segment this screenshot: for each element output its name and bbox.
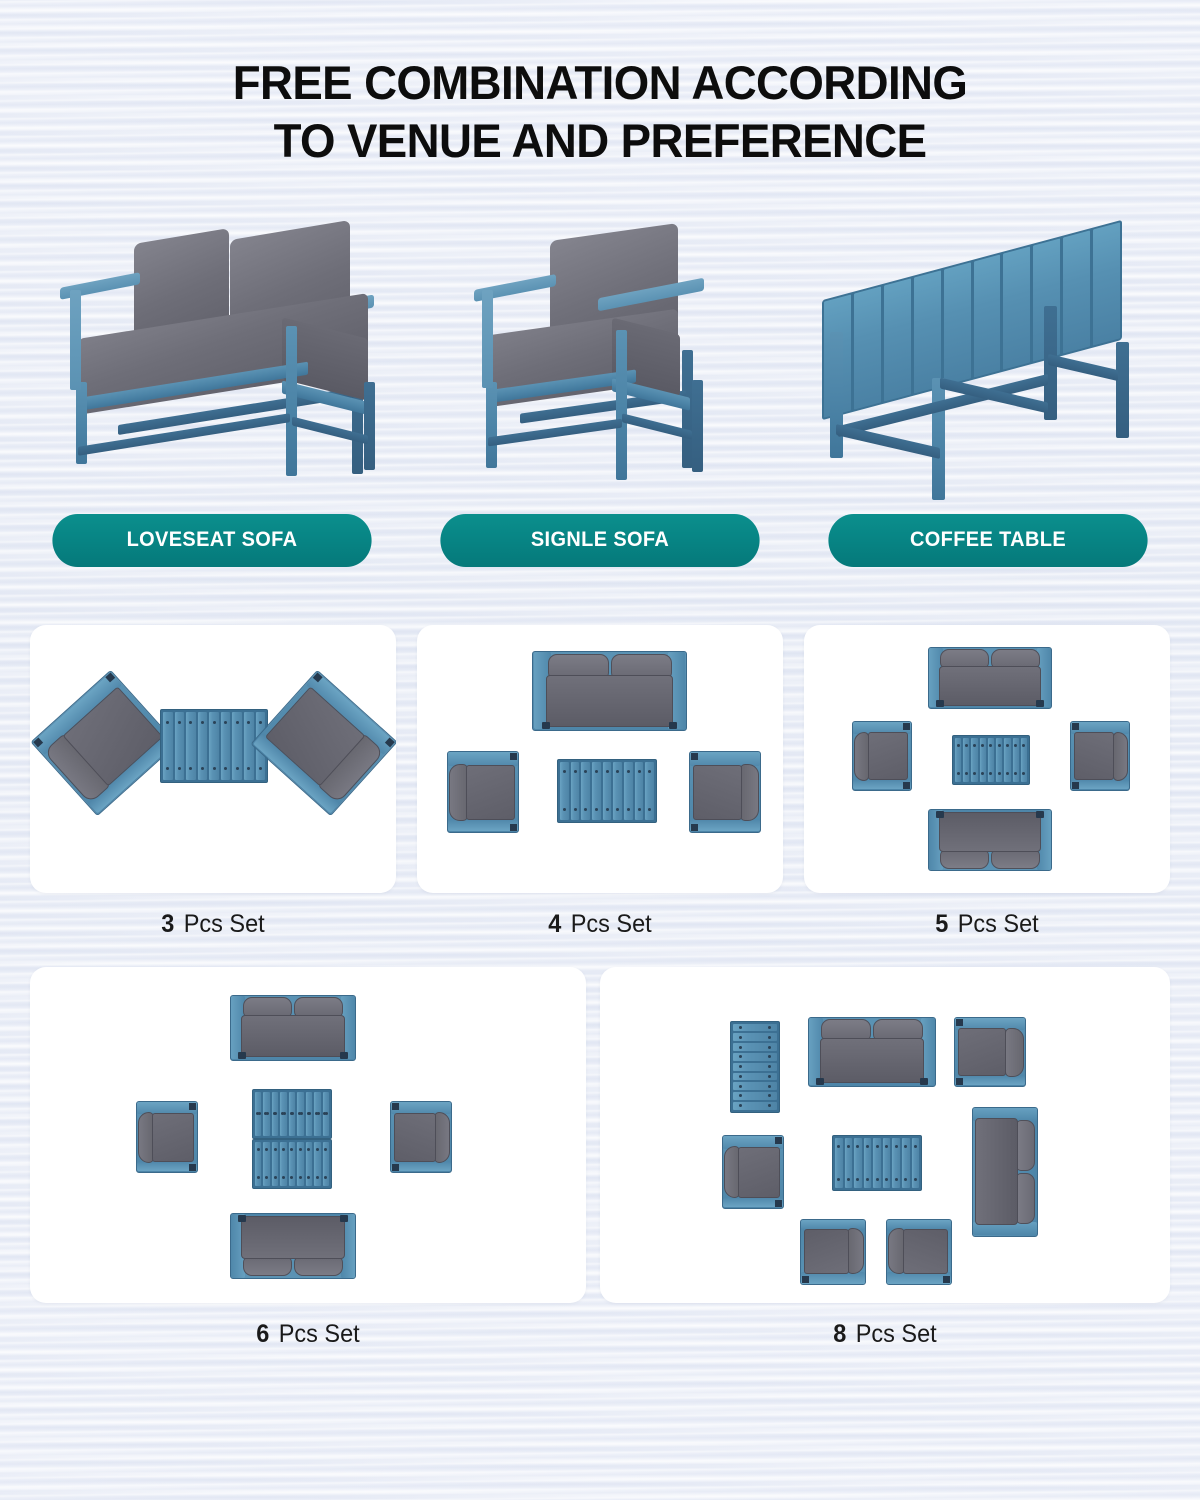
loveseat-top <box>230 995 356 1061</box>
product-label-row: LOVESEAT SOFA SIGNLE SOFA COFFEE TABLE <box>0 500 1200 567</box>
set-6-pcs-count: 6 <box>256 1320 269 1348</box>
set-3-pcs-caption: 3 Pcs Set <box>41 910 385 939</box>
chair-left <box>447 751 519 833</box>
table-upper-left <box>730 1021 780 1113</box>
coffee-table-icon <box>816 250 1136 500</box>
set-5-pcs-diagram <box>804 625 1170 893</box>
set-4-pcs-caption: 4 Pcs Set <box>428 910 772 939</box>
hero-product-row <box>0 170 1200 500</box>
set-3-pcs-unit: Pcs Set <box>177 910 265 938</box>
chair-left <box>852 721 912 791</box>
set-5-pcs-caption: 5 Pcs Set <box>815 910 1159 939</box>
set-8-pcs-unit: Pcs Set <box>849 1320 937 1348</box>
set-8-pcs-caption: 8 Pcs Set <box>617 1320 1153 1349</box>
page-title-line-1: FREE COMBINATION ACCORDING <box>18 54 1182 112</box>
set-3-pcs[interactable]: 3 Pcs Set <box>30 625 396 939</box>
chair-left <box>722 1135 784 1209</box>
set-4-pcs-count: 4 <box>548 910 561 938</box>
table-center-lower <box>252 1139 332 1189</box>
pill-loveseat-sofa[interactable]: LOVESEAT SOFA <box>52 514 371 567</box>
set-8-pcs[interactable]: 8 Pcs Set <box>600 967 1170 1349</box>
loveseat-top <box>532 651 687 731</box>
chair-left <box>30 669 177 816</box>
pill-coffee-table[interactable]: COFFEE TABLE <box>828 514 1147 567</box>
set-6-pcs-diagram <box>30 967 586 1303</box>
hero-coffee-table <box>790 190 1162 500</box>
page-title-line-2: TO VENUE AND PREFERENCE <box>18 112 1182 170</box>
table-center <box>832 1135 922 1191</box>
chair-left <box>136 1101 198 1173</box>
hero-single-sofa <box>414 190 786 500</box>
set-4-pcs[interactable]: 4 Pcs Set <box>417 625 783 939</box>
set-5-pcs[interactable]: 5 Pcs Set <box>804 625 1170 939</box>
set-6-pcs[interactable]: 6 Pcs Set <box>30 967 586 1349</box>
set-6-pcs-caption: 6 Pcs Set <box>47 1320 570 1349</box>
set-4-pcs-unit: Pcs Set <box>564 910 652 938</box>
table-center <box>557 759 657 823</box>
chair-right <box>390 1101 452 1173</box>
chair-top-right <box>954 1017 1026 1087</box>
set-row-top: 3 Pcs Set <box>30 625 1170 939</box>
single-sofa-icon <box>470 230 730 500</box>
loveseat-top <box>928 647 1052 709</box>
set-8-pcs-count: 8 <box>833 1320 846 1348</box>
loveseat-bottom <box>928 809 1052 871</box>
chair-bottom-right <box>886 1219 952 1285</box>
set-3-pcs-diagram <box>30 625 396 893</box>
loveseat-sofa-icon <box>54 230 394 500</box>
page-title: FREE COMBINATION ACCORDING TO VENUE AND … <box>18 0 1182 170</box>
set-6-pcs-unit: Pcs Set <box>272 1320 360 1348</box>
hero-loveseat-sofa <box>38 190 410 500</box>
set-row-bottom: 6 Pcs Set <box>30 967 1170 1349</box>
loveseat-top <box>808 1017 936 1087</box>
chair-right <box>250 669 396 816</box>
loveseat-bottom <box>230 1213 356 1279</box>
pill-single-sofa[interactable]: SIGNLE SOFA <box>440 514 759 567</box>
chair-right <box>1070 721 1130 791</box>
set-5-pcs-unit: Pcs Set <box>951 910 1039 938</box>
chair-right <box>689 751 761 833</box>
set-8-pcs-diagram <box>600 967 1170 1303</box>
table-center <box>952 735 1030 785</box>
set-4-pcs-diagram <box>417 625 783 893</box>
chair-bottom-left <box>800 1219 866 1285</box>
table-center-upper <box>252 1089 332 1139</box>
loveseat-right <box>972 1107 1038 1237</box>
set-configurations: 3 Pcs Set <box>0 567 1200 1349</box>
set-5-pcs-count: 5 <box>935 910 948 938</box>
infographic-page: FREE COMBINATION ACCORDING TO VENUE AND … <box>0 0 1200 1349</box>
set-3-pcs-count: 3 <box>161 910 174 938</box>
